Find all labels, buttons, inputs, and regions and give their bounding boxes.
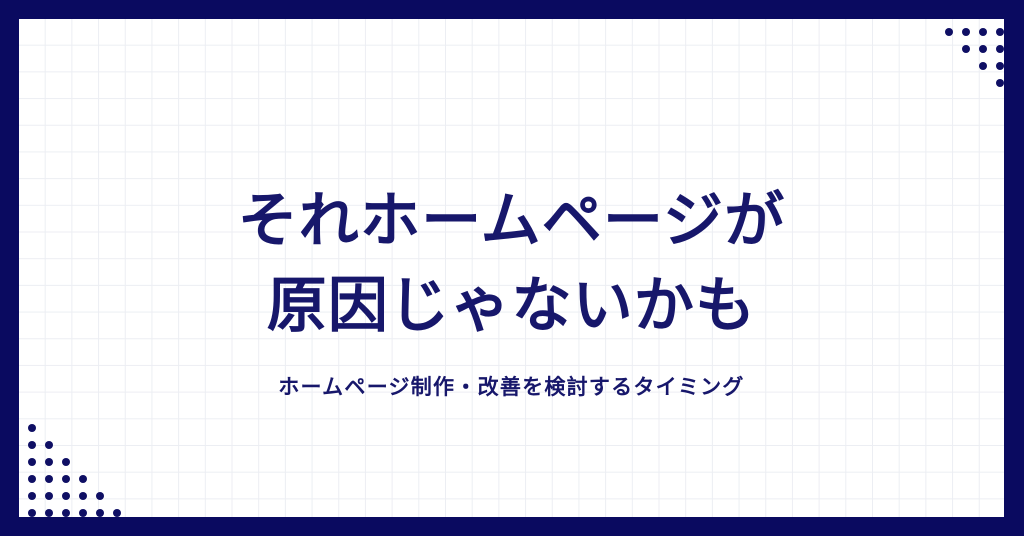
decor-dot-empty xyxy=(979,79,987,87)
decor-dot-empty xyxy=(96,475,104,483)
promo-banner: それホームページが 原因じゃないかも ホームページ制作・改善を検討するタイミング xyxy=(0,0,1024,536)
decor-dot-empty xyxy=(113,492,121,500)
decor-dot-empty xyxy=(113,441,121,449)
decor-dot xyxy=(979,62,987,70)
decor-dot-empty xyxy=(113,458,121,466)
decor-dot xyxy=(962,28,970,36)
decor-dot-empty xyxy=(62,424,70,432)
headline-line-2: 原因じゃないかも xyxy=(19,264,1004,349)
decor-dot xyxy=(28,458,36,466)
decor-dot xyxy=(28,424,36,432)
decor-dot xyxy=(28,492,36,500)
dot-triangle-bottom-left-icon xyxy=(28,424,121,517)
decor-dot xyxy=(62,475,70,483)
decor-dot-empty xyxy=(962,79,970,87)
decor-dot xyxy=(62,509,70,517)
decor-dot xyxy=(45,458,53,466)
decor-dot xyxy=(96,509,104,517)
decor-dot-empty xyxy=(96,424,104,432)
decor-dot-empty xyxy=(45,424,53,432)
decor-dot xyxy=(28,475,36,483)
decor-dot-empty xyxy=(79,424,87,432)
decor-dot xyxy=(28,509,36,517)
decor-dot-empty xyxy=(96,458,104,466)
decor-dot xyxy=(96,492,104,500)
decor-dot xyxy=(979,28,987,36)
decor-dot xyxy=(945,28,953,36)
decor-dot xyxy=(113,509,121,517)
decor-dot-empty xyxy=(113,424,121,432)
decor-dot xyxy=(79,475,87,483)
decor-dot xyxy=(79,492,87,500)
decor-dot xyxy=(45,492,53,500)
decor-dot xyxy=(45,509,53,517)
decor-dot xyxy=(62,492,70,500)
decor-dot xyxy=(996,45,1004,53)
decor-dot-empty xyxy=(62,441,70,449)
headline-line-1: それホームページが xyxy=(19,179,1004,264)
decor-dot-empty xyxy=(945,62,953,70)
decor-dot xyxy=(979,45,987,53)
decor-dot-empty xyxy=(113,475,121,483)
decor-dot xyxy=(962,45,970,53)
dot-triangle-top-right-icon xyxy=(945,28,1004,87)
banner-subtitle: ホームページ制作・改善を検討するタイミング xyxy=(19,371,1004,401)
decor-dot xyxy=(996,62,1004,70)
decor-dot-empty xyxy=(945,45,953,53)
banner-canvas: それホームページが 原因じゃないかも ホームページ制作・改善を検討するタイミング xyxy=(19,19,1004,517)
decor-dot-empty xyxy=(79,441,87,449)
decor-dot-empty xyxy=(962,62,970,70)
decor-dot xyxy=(45,441,53,449)
decor-dot xyxy=(45,475,53,483)
decor-dot-empty xyxy=(79,458,87,466)
decor-dot xyxy=(996,28,1004,36)
decor-dot xyxy=(996,79,1004,87)
decor-dot-empty xyxy=(945,79,953,87)
decor-dot xyxy=(62,458,70,466)
decor-dot-empty xyxy=(96,441,104,449)
decor-dot xyxy=(79,509,87,517)
decor-dot xyxy=(28,441,36,449)
banner-text-block: それホームページが 原因じゃないかも ホームページ制作・改善を検討するタイミング xyxy=(19,179,1004,401)
